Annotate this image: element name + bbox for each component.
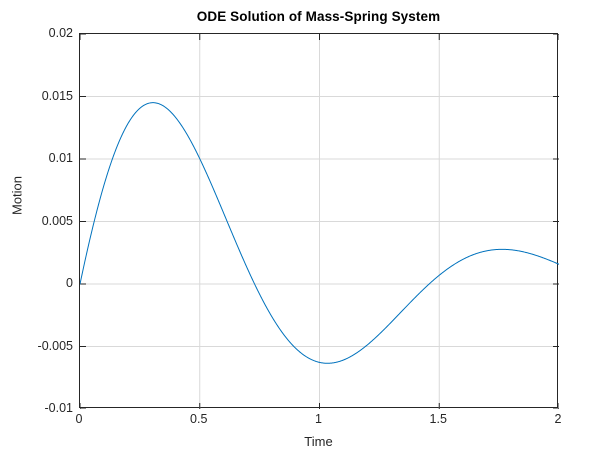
y-tick-label: 0.005 — [42, 214, 73, 228]
figure-canvas: ODE Solution of Mass-Spring System -0.01… — [0, 0, 615, 461]
x-tick-label: 1.5 — [430, 412, 447, 426]
x-tick-label: 0.5 — [190, 412, 207, 426]
x-tick-label: 0 — [76, 412, 83, 426]
data-series-line — [80, 34, 559, 409]
plot-axes — [79, 33, 558, 408]
page-title: ODE Solution of Mass-Spring System — [79, 9, 558, 24]
y-tick-label: 0.02 — [49, 26, 73, 40]
x-tick-label: 2 — [555, 412, 562, 426]
y-tick-label: 0 — [66, 276, 73, 290]
y-tick-label: 0.01 — [49, 151, 73, 165]
y-tick-label: -0.01 — [45, 401, 74, 415]
x-axis-tick-labels: 00.511.52 — [79, 412, 558, 432]
y-tick-label: 0.015 — [42, 89, 73, 103]
series-motion-line — [80, 103, 559, 364]
y-axis-label: Motion — [10, 146, 25, 246]
x-axis-label: Time — [79, 434, 558, 449]
x-tick-label: 1 — [315, 412, 322, 426]
y-tick-label: -0.005 — [38, 339, 73, 353]
